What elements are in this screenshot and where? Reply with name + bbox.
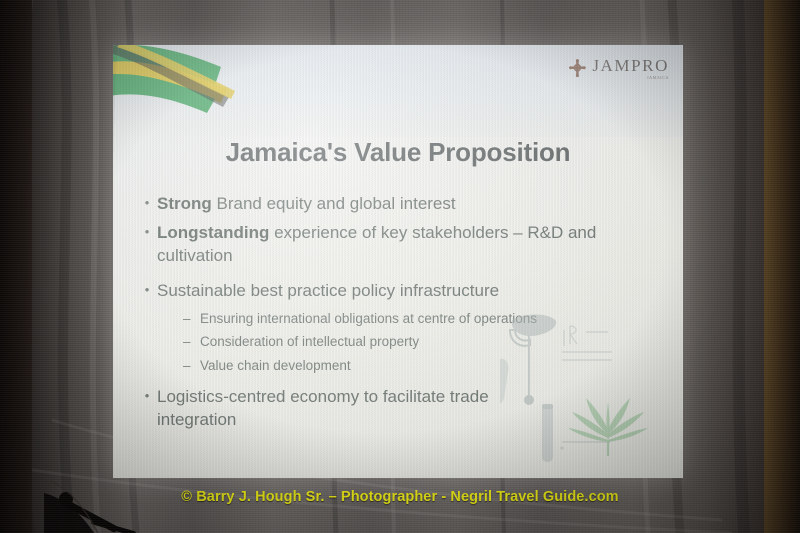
- jamaica-flag-icon: [113, 45, 238, 129]
- prescription-rx-icon: [560, 326, 612, 450]
- bullet-text: Longstanding experience of key stakehold…: [157, 222, 665, 267]
- projected-slide: JAMPRO JAMAICA Jamaica's Value Propositi…: [113, 45, 683, 478]
- bullet-lead: Longstanding: [157, 223, 269, 242]
- bullet-item: • Sustainable best practice policy infra…: [137, 280, 665, 302]
- capsule-icon: [500, 359, 508, 422]
- sub-bullet-text: Value chain development: [200, 357, 351, 375]
- slide-title: Jamaica's Value Proposition: [113, 137, 683, 168]
- bullet-text: Strong Brand equity and global interest: [157, 193, 665, 215]
- bullet-rest: Sustainable best practice policy infrast…: [157, 281, 499, 300]
- bullet-marker: •: [137, 386, 157, 431]
- bullet-text: Sustainable best practice policy infrast…: [157, 280, 665, 302]
- sub-bullet-marker: –: [183, 357, 200, 375]
- jampro-crest-icon: [569, 59, 586, 78]
- bullet-rest: Brand equity and global interest: [212, 194, 456, 213]
- bullet-lead: Strong: [157, 194, 212, 213]
- jampro-logo: JAMPRO JAMAICA: [569, 57, 669, 80]
- jampro-tagline: JAMAICA: [592, 75, 669, 80]
- photographer-watermark: © Barry J. Hough Sr. – Photographer - Ne…: [0, 489, 800, 505]
- bullet-item: • Longstanding experience of key stakeho…: [137, 222, 665, 267]
- jampro-wordmark: JAMPRO: [592, 57, 669, 74]
- bullet-marker: •: [137, 280, 157, 302]
- sub-bullet-marker: –: [183, 333, 200, 351]
- bullet-marker: •: [137, 222, 157, 267]
- cannabis-leaf-icon: [568, 398, 648, 456]
- bullet-rest: Logistics-centred economy to facilitate …: [157, 387, 489, 428]
- joint-icon: [542, 404, 553, 462]
- sub-bullet-text: Ensuring international obligations at ce…: [200, 310, 537, 328]
- sub-bullet-text: Consideration of intellectual property: [200, 333, 419, 351]
- bullet-item: • Logistics-centred economy to facilitat…: [137, 386, 537, 431]
- vaporizer-pipe-icon: [510, 314, 556, 405]
- bullet-item: • Strong Brand equity and global interes…: [137, 193, 665, 215]
- slide-artwork: [500, 312, 675, 472]
- sub-bullet-marker: –: [183, 310, 200, 328]
- bullet-text: Logistics-centred economy to facilitate …: [157, 386, 537, 431]
- bullet-marker: •: [137, 193, 157, 215]
- presentation-photo-scene: JAMPRO JAMAICA Jamaica's Value Propositi…: [0, 0, 800, 533]
